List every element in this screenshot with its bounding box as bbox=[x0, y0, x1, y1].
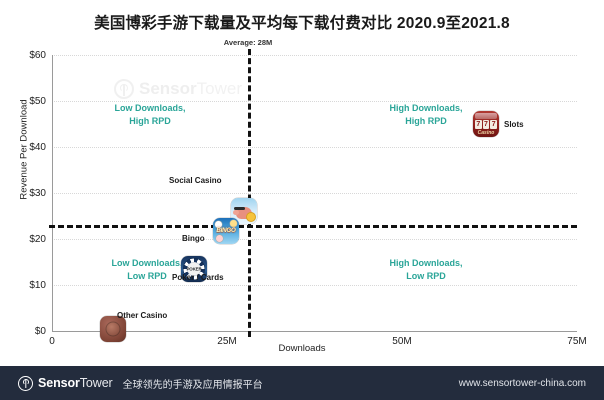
quadrant-label-top-left: Low Downloads, High RPD bbox=[115, 102, 186, 128]
quadrant-label-top-left-line2: High RPD bbox=[115, 115, 186, 128]
data-point-label-poker-cards: Poker / Cards bbox=[172, 273, 224, 282]
social-casino-icon-coin bbox=[247, 213, 255, 221]
data-point-label-other-casino: Other Casino bbox=[117, 311, 167, 320]
quadrant-label-top-right-line2: High RPD bbox=[390, 115, 463, 128]
scatter-chart: Revenue Per Download $60 $50 $40 $30 $20… bbox=[0, 36, 604, 362]
y-tick-label-20: $20 bbox=[6, 234, 46, 245]
data-point-label-slots: Slots bbox=[504, 120, 524, 129]
x-axis-title: Downloads bbox=[0, 343, 604, 354]
bingo-icon-ball-2 bbox=[230, 220, 237, 227]
quadrant-label-top-right-line1: High Downloads, bbox=[390, 102, 463, 115]
quadrant-label-bottom-right-line1: High Downloads, bbox=[390, 257, 463, 270]
quadrant-label-bottom-left-line1: Low Downloads, bbox=[112, 257, 183, 270]
social-casino-icon-snout bbox=[233, 210, 239, 215]
social-casino-icon-sunglasses bbox=[234, 207, 245, 210]
sensortower-logo-icon bbox=[114, 79, 134, 99]
footer-brand-light: Tower bbox=[80, 376, 113, 390]
slots-icon-reel-2: 7 bbox=[483, 120, 490, 129]
quadrant-label-top-left-line1: Low Downloads, bbox=[115, 102, 186, 115]
data-point-slots[interactable]: 7 7 7 Casino Slots bbox=[473, 111, 499, 137]
slots-icon: 7 7 7 Casino bbox=[473, 111, 499, 137]
footer-url[interactable]: www.sensortower-china.com bbox=[459, 378, 586, 389]
x-axis-line bbox=[52, 331, 577, 332]
slots-icon-reels: 7 7 7 bbox=[475, 120, 497, 129]
y-tick-label-60: $60 bbox=[6, 50, 46, 61]
watermark-text: SensorTower bbox=[139, 79, 242, 99]
watermark-brand-light: Tower bbox=[197, 79, 242, 98]
slots-icon-casino-text: Casino bbox=[473, 130, 499, 136]
y-axis-line bbox=[52, 55, 53, 331]
footer-brand: SensorTower bbox=[38, 376, 113, 390]
bingo-icon: BINGO bbox=[213, 218, 239, 244]
poker-cards-icon-text: POKER bbox=[186, 267, 201, 272]
data-point-bingo[interactable]: BINGO Bingo bbox=[213, 218, 239, 244]
quadrant-label-bottom-right: High Downloads, Low RPD bbox=[390, 257, 463, 283]
title-bar: 美国博彩手游下载量及平均每下载付费对比 2020.9至2021.8 bbox=[0, 8, 604, 36]
gridline-10 bbox=[52, 285, 577, 286]
plot-region: SensorTower Low Downloads, High RPD High… bbox=[52, 55, 577, 331]
footer-bar: SensorTower 全球领先的手游及应用情报平台 www.sensortow… bbox=[0, 366, 604, 400]
footer-tagline: 全球领先的手游及应用情报平台 bbox=[123, 376, 263, 391]
footer-logo: SensorTower bbox=[18, 376, 113, 391]
slots-icon-reel-3: 7 bbox=[490, 120, 497, 129]
footer-brand-bold: Sensor bbox=[38, 376, 80, 390]
gridline-30 bbox=[52, 193, 577, 194]
average-downloads-reference-line bbox=[248, 49, 251, 337]
sensortower-watermark: SensorTower bbox=[114, 79, 242, 99]
data-point-other-casino[interactable]: Other Casino bbox=[100, 316, 126, 342]
data-point-label-social-casino: Social Casino bbox=[169, 176, 221, 185]
gridline-60 bbox=[52, 55, 577, 56]
page-title: 美国博彩手游下载量及平均每下载付费对比 2020.9至2021.8 bbox=[94, 11, 510, 33]
sensortower-logo-icon-footer bbox=[18, 376, 33, 391]
bingo-icon-ball-3 bbox=[216, 235, 223, 242]
average-downloads-label: Average: 28M bbox=[224, 38, 273, 47]
gridline-40 bbox=[52, 147, 577, 148]
bingo-icon-text: BINGO bbox=[213, 227, 239, 234]
slots-icon-top-strip bbox=[475, 113, 497, 119]
y-tick-label-50: $50 bbox=[6, 96, 46, 107]
gridline-20 bbox=[52, 239, 577, 240]
y-tick-label-10: $10 bbox=[6, 280, 46, 291]
other-casino-icon-emblem bbox=[106, 322, 121, 337]
quadrant-label-bottom-right-line2: Low RPD bbox=[390, 270, 463, 283]
average-rpd-reference-line bbox=[49, 225, 577, 228]
watermark-brand-bold: Sensor bbox=[139, 79, 197, 98]
slots-icon-reel-1: 7 bbox=[475, 120, 482, 129]
y-tick-label-30: $30 bbox=[6, 188, 46, 199]
quadrant-label-top-right: High Downloads, High RPD bbox=[390, 102, 463, 128]
data-point-label-bingo: Bingo bbox=[182, 234, 205, 243]
data-point-poker-cards[interactable]: POKER Poker / Cards bbox=[181, 256, 207, 282]
y-tick-label-40: $40 bbox=[6, 142, 46, 153]
